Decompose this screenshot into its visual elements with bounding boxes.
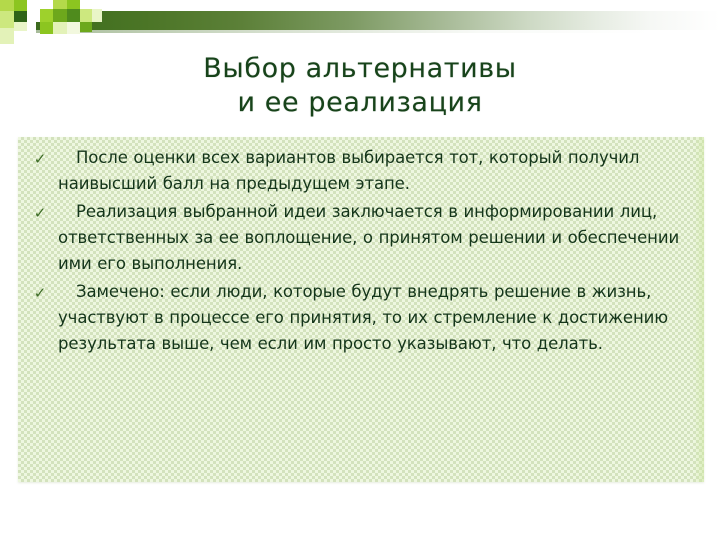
- bullet-list: ✓ После оценки всех вариантов выбирается…: [18, 145, 704, 359]
- mosaic-square: [14, 22, 27, 31]
- mosaic-square: [14, 11, 27, 22]
- list-item-text: Замечено: если люди, которые будут внедр…: [58, 279, 690, 357]
- checkmark-icon: ✓: [32, 202, 48, 225]
- mosaic-square: [14, 0, 27, 11]
- mosaic-square: [40, 22, 53, 34]
- list-item: ✓ Замечено: если люди, которые будут вне…: [18, 279, 704, 357]
- checkmark-icon: ✓: [32, 282, 48, 305]
- content-panel: ✓ После оценки всех вариантов выбирается…: [18, 137, 704, 482]
- mosaic-square: [0, 28, 14, 44]
- mosaic-square: [80, 9, 92, 22]
- mosaic-square: [92, 9, 102, 22]
- mosaic-square: [53, 9, 67, 22]
- mosaic-square: [53, 0, 67, 9]
- list-item-text: Реализация выбранной идеи заключается в …: [58, 199, 690, 277]
- header-band-shadow: [36, 30, 720, 33]
- mosaic-square: [0, 11, 14, 28]
- header-gradient-band: [36, 11, 720, 30]
- title-line-2: и ее реализация: [60, 86, 660, 120]
- title-line-1: Выбор альтернативы: [60, 52, 660, 86]
- mosaic-square: [0, 0, 14, 11]
- mosaic-square: [40, 0, 53, 9]
- mosaic-square: [40, 9, 53, 22]
- slide-title: Выбор альтернативы и ее реализация: [60, 52, 660, 120]
- list-item: ✓ Реализация выбранной идеи заключается …: [18, 199, 704, 277]
- mosaic-square: [53, 22, 67, 34]
- mosaic-square: [27, 11, 40, 22]
- presentation-slide: Выбор альтернативы и ее реализация ✓ Пос…: [0, 0, 720, 540]
- mosaic-square: [67, 9, 80, 22]
- list-item-text: После оценки всех вариантов выбирается т…: [58, 145, 690, 197]
- list-item: ✓ После оценки всех вариантов выбирается…: [18, 145, 704, 197]
- checkmark-icon: ✓: [32, 148, 48, 171]
- mosaic-square: [67, 0, 80, 9]
- mosaic-square: [80, 22, 92, 32]
- mosaic-square: [67, 22, 80, 34]
- mosaic-square: [27, 0, 40, 11]
